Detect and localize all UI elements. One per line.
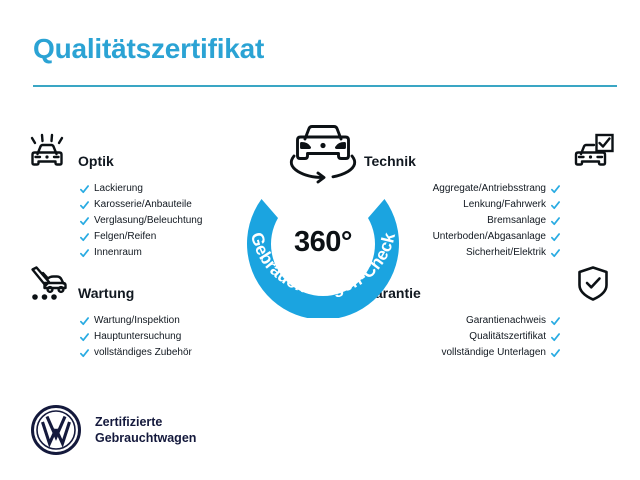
check-icon [551,349,560,358]
check-icon [551,317,560,326]
list-item: vollständiges Zubehör [80,345,276,361]
badge-degrees: 360° [228,226,418,259]
header-divider [33,85,617,87]
list-item-label: Lenkung/Fahrwerk [463,200,546,210]
check-icon [80,317,89,326]
check-icon [80,249,89,258]
list-item-label: Innenraum [94,248,142,258]
list-item-label: Garantienachweis [466,316,546,326]
list-item-label: vollständiges Zubehör [94,348,192,358]
check-icon [551,249,560,258]
section-garantie-list: Garantienachweis Qualitätszertifikat vol… [364,313,616,361]
vw-logo-icon [30,404,82,456]
vw-brand-lockup: Zertifizierte Gebrauchtwagen [30,404,196,456]
list-item-label: Karosserie/Anbauteile [94,200,192,210]
certificate-page: Qualitätszertifikat [0,0,640,480]
check-icon [551,201,560,210]
car-shine-icon [24,130,70,172]
list-item-label: Felgen/Reifen [94,232,156,242]
check-icon [80,349,89,358]
check-icon [80,333,89,342]
check-icon [80,201,89,210]
list-item-label: Sicherheit/Elektrik [466,248,546,258]
list-item-label: Unterboden/Abgasanlage [433,232,546,242]
list-item-label: Verglasung/Beleuchtung [94,216,202,226]
list-item-label: Wartung/Inspektion [94,316,180,326]
check-icon [551,333,560,342]
check-icon [80,185,89,194]
vw-brand-line1: Zertifizierte [95,415,162,429]
list-item-label: Lackierung [94,184,143,194]
check-icon [80,233,89,242]
vw-brand-line2: Gebrauchtwagen [95,431,196,445]
check-icon [551,185,560,194]
section-optik-title: Optik [78,153,114,169]
list-item-label: Hauptuntersuchung [94,332,181,342]
check-icon [551,233,560,242]
page-title: Qualitätszertifikat [33,34,617,65]
check-icon [80,217,89,226]
shield-check-icon [570,262,616,304]
car-checkbox-icon [570,130,616,172]
list-item-label: Qualitätszertifikat [469,332,546,342]
list-item-label: Aggregate/Antriebsstrang [433,184,546,194]
vw-brand-text: Zertifizierte Gebrauchtwagen [95,414,196,446]
car-wrench-icon [24,262,70,304]
check-icon [551,217,560,226]
list-item-label: vollständige Unterlagen [441,348,546,358]
car-rotate-icon [278,118,368,184]
list-item: Qualitätszertifikat [364,329,560,345]
list-item: vollständige Unterlagen [364,345,560,361]
section-wartung-title: Wartung [78,285,134,301]
section-wartung-list: Wartung/Inspektion Hauptuntersuchung vol… [24,313,276,361]
page-header: Qualitätszertifikat [33,34,617,87]
badge-360-gebrauchtwagen-check: Gebrauchtwagen-Check [228,118,418,318]
list-item: Hauptuntersuchung [80,329,276,345]
list-item-label: Bremsanlage [487,216,546,226]
